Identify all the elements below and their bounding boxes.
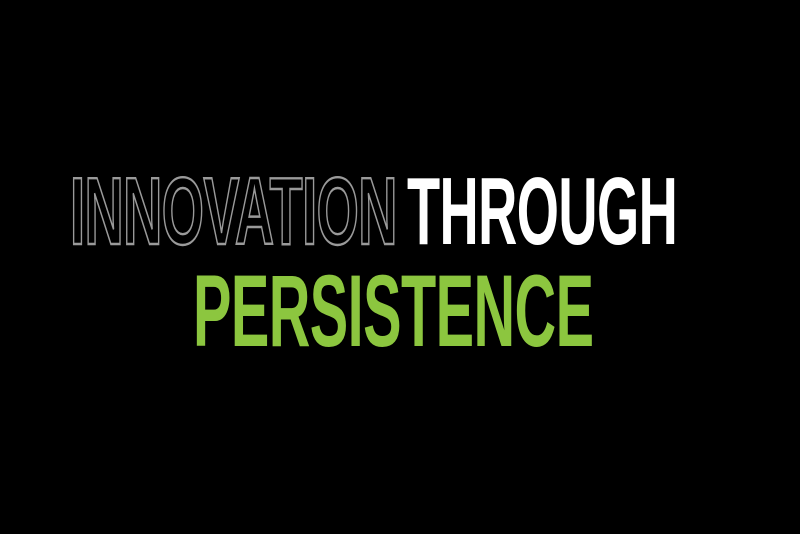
headline-word-persistence: PERSISTENCE [193, 260, 593, 362]
headline-word-innovation: INNOVATION [70, 164, 397, 260]
headline-line-2: PERSISTENCE [193, 260, 593, 362]
headline-line-1: INNOVATIONTHROUGH [70, 164, 677, 260]
poster-canvas: INNOVATIONTHROUGH PERSISTENCE [0, 0, 800, 534]
headline-word-through: THROUGH [407, 164, 677, 260]
